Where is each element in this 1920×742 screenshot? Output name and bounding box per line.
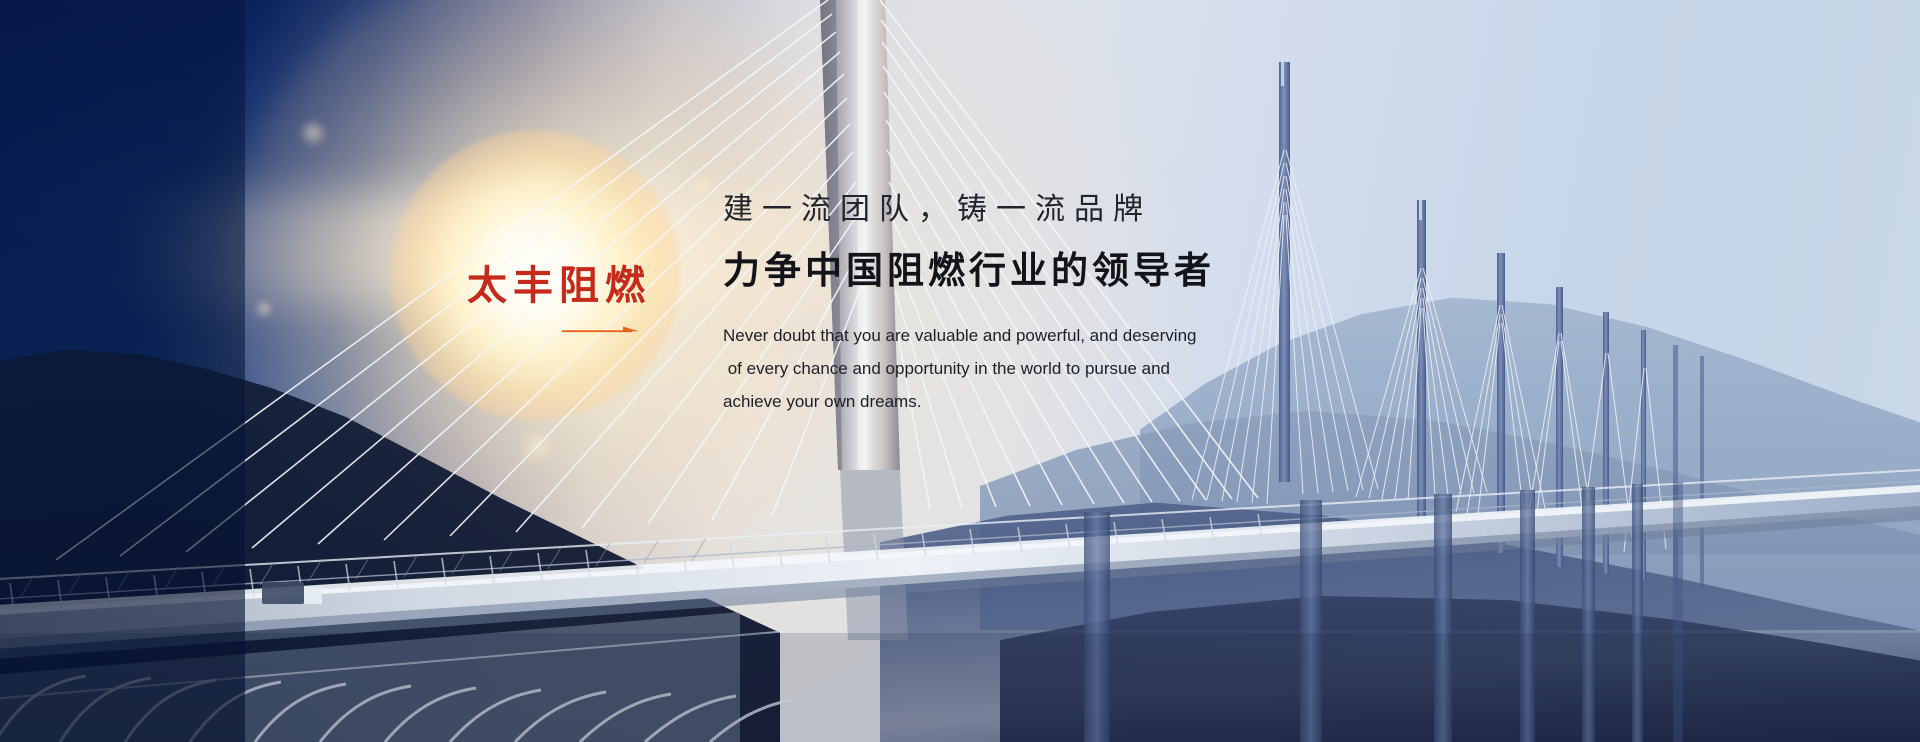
- headline-block: 建一流团队，铸一流品牌 力争中国阻燃行业的领导者 Never doubt tha…: [723, 190, 1323, 418]
- headline-title: 力争中国阻燃行业的领导者: [723, 247, 1323, 295]
- brand-logo-text: 太丰阻燃: [467, 266, 707, 306]
- banner-content: 太丰阻燃 建一流团队，铸一流品牌 力争中国阻燃行业的领导者 Never doub…: [0, 0, 1920, 742]
- description-line-3: achieve your own dreams.: [723, 385, 1323, 418]
- description-line-1: Never doubt that you are valuable and po…: [723, 319, 1323, 352]
- description-text: Never doubt that you are valuable and po…: [723, 319, 1323, 418]
- hero-banner: 太丰阻燃 建一流团队，铸一流品牌 力争中国阻燃行业的领导者 Never doub…: [0, 0, 1920, 742]
- brand-logo[interactable]: 太丰阻燃: [467, 266, 707, 336]
- headline-subtitle: 建一流团队，铸一流品牌: [723, 190, 1323, 231]
- description-line-2: of every chance and opportunity in the w…: [723, 352, 1323, 385]
- arrow-right-icon: [562, 326, 640, 336]
